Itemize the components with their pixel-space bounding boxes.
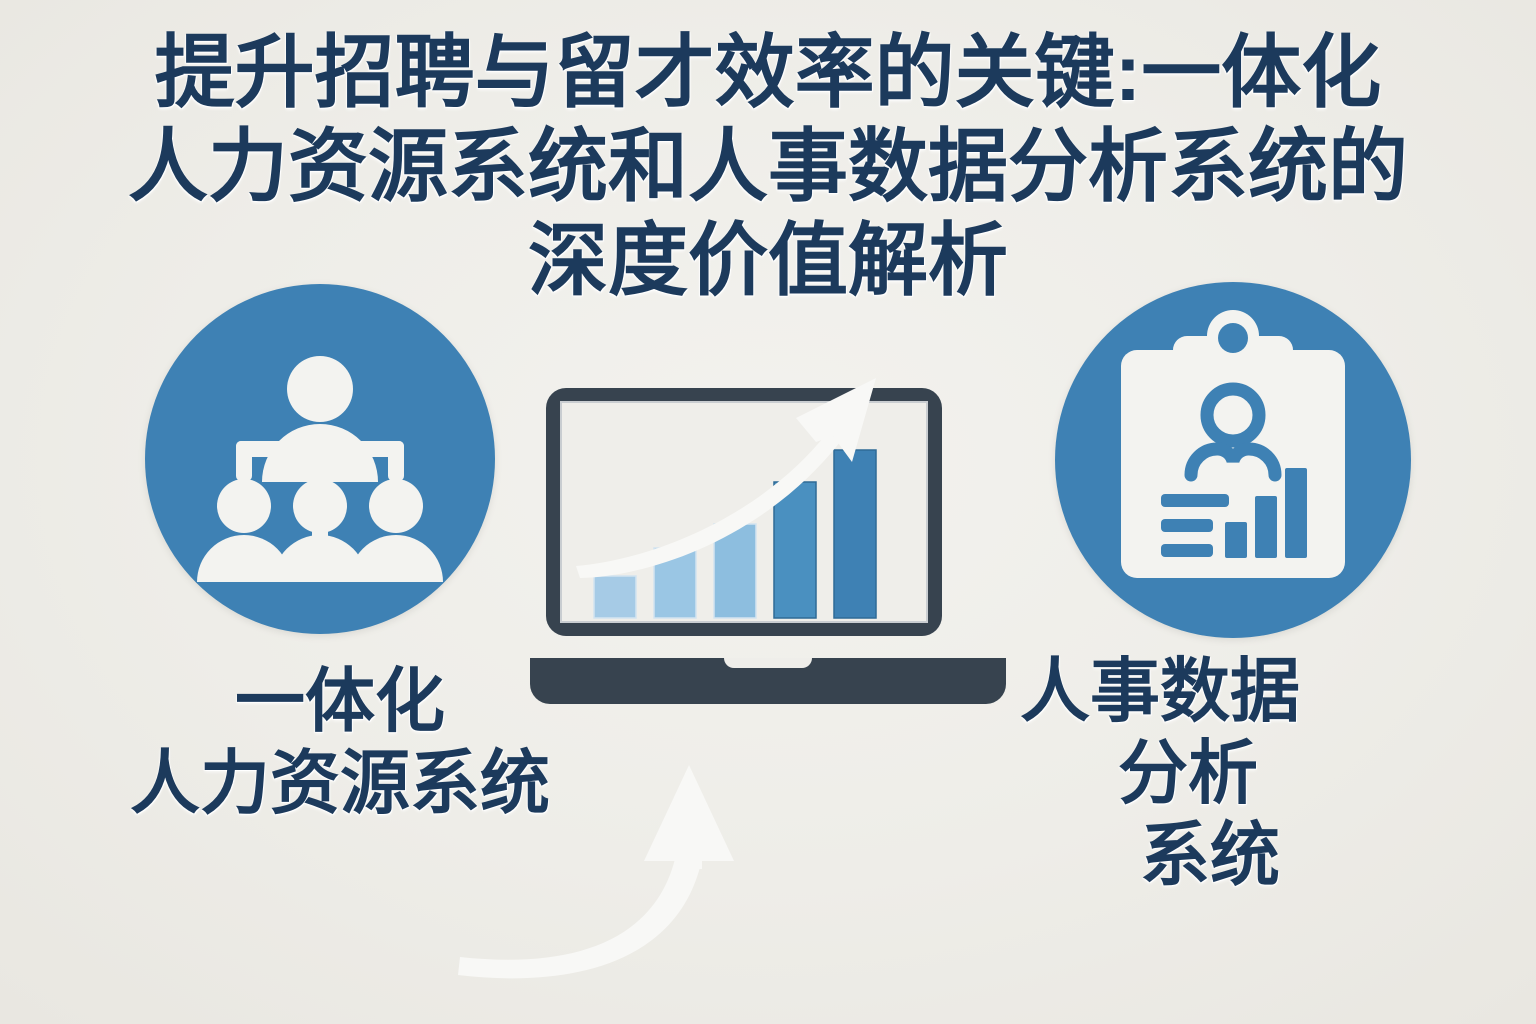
right-caption: 人事数据 分析 系统 (1020, 650, 1480, 896)
title-line-1: 提升招聘与留才效率的关键:一体化 (0, 26, 1536, 120)
right-caption-line-1: 人事数据 (1020, 650, 1480, 732)
clipboard-analytics-icon (1055, 282, 1411, 638)
right-caption-line-2: 分析 (1020, 732, 1480, 814)
clipboard-analytics-icon-badge (1055, 282, 1411, 638)
bar-5 (834, 450, 876, 618)
org-chart-subordinates (197, 479, 443, 582)
left-caption: 一体化 人力资源系统 (0, 660, 680, 824)
bar-4 (774, 482, 816, 618)
infographic-canvas: 提升招聘与留才效率的关键:一体化 人力资源系统和人事数据分析系统的 深度价值解析 (0, 0, 1536, 1024)
org-chart-icon-badge (145, 284, 495, 634)
bar-1 (594, 576, 636, 618)
left-caption-line-2: 人力资源系统 (0, 742, 680, 824)
org-chart-icon (145, 284, 495, 634)
laptop-trackpad-notch (724, 658, 812, 668)
title-line-2: 人力资源系统和人事数据分析系统的 (0, 120, 1536, 214)
left-caption-line-1: 一体化 (0, 660, 680, 742)
right-caption-line-3: 系统 (1020, 814, 1480, 896)
page-title: 提升招聘与留才效率的关键:一体化 人力资源系统和人事数据分析系统的 深度价值解析 (0, 26, 1536, 308)
